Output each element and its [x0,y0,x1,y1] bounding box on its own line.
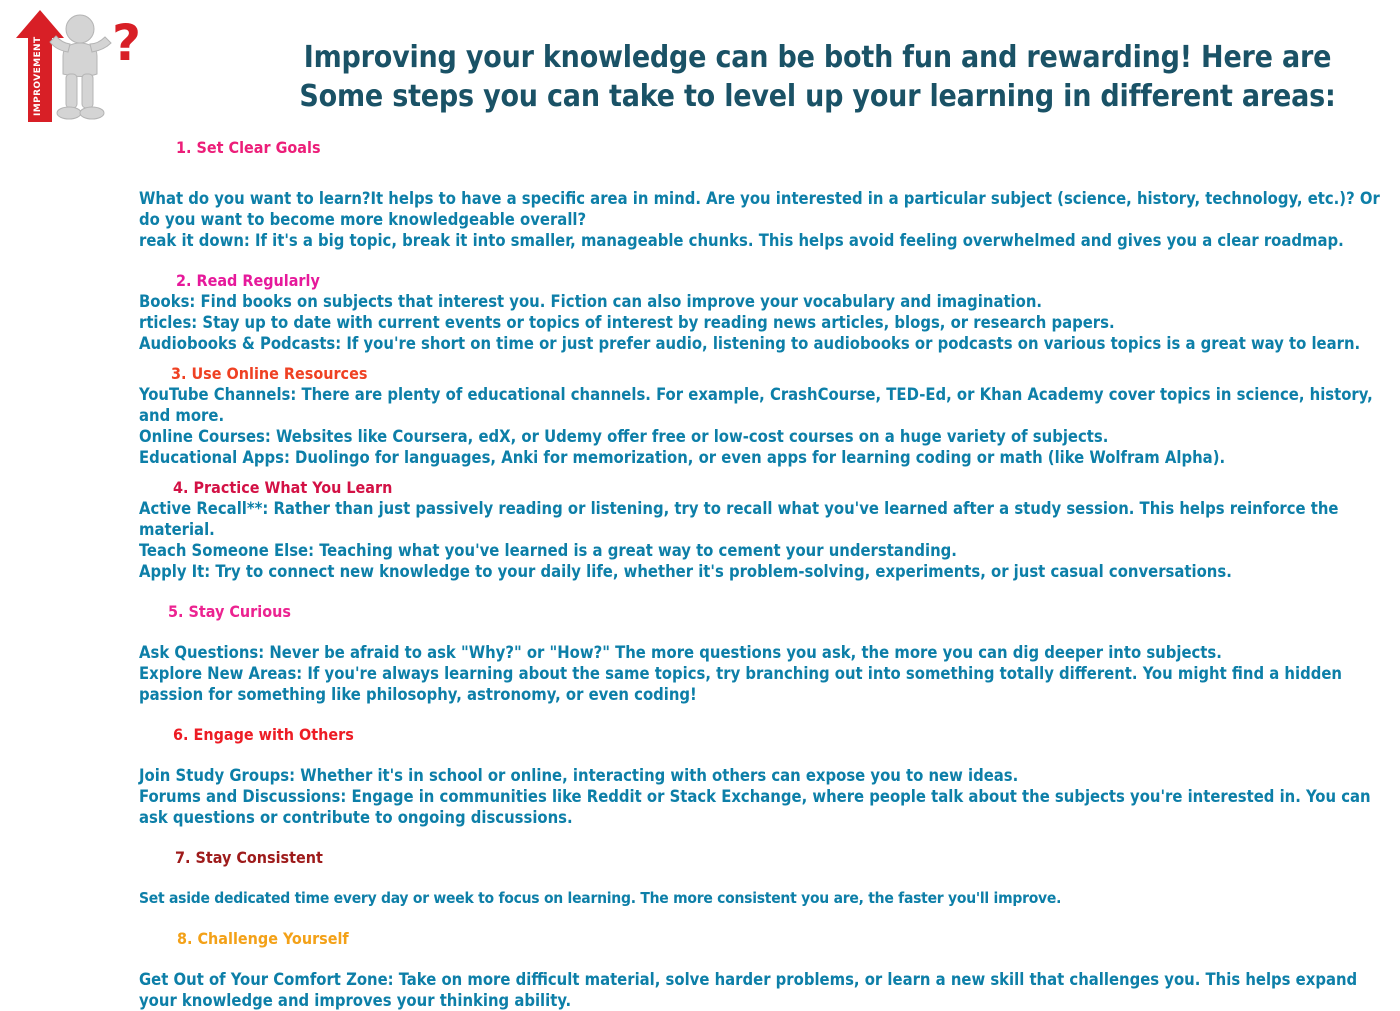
section-5-line-2: Explore New Areas: If you're always lear… [139,663,1394,705]
section-1: 1. Set Clear Goals What do you want to l… [0,138,1400,251]
section-4-line-2: Teach Someone Else: Teaching what you've… [139,540,1394,561]
section-4-body: Active Recall**: Rather than just passiv… [0,498,1400,582]
section-5-body: Ask Questions: Never be afraid to ask "W… [0,642,1400,705]
section-6: 6. Engage with Others Join Study Groups:… [0,725,1400,828]
section-2-line-1: Books: Find books on subjects that inter… [139,291,1394,312]
section-1-body: What do you want to learn?It helps to ha… [0,188,1400,251]
section-2-body: Books: Find books on subjects that inter… [0,291,1400,354]
section-7-line-1: Set aside dedicated time every day or we… [139,888,1394,909]
section-5: 5. Stay Curious Ask Questions: Never be … [0,602,1400,705]
section-2-line-2: rticles: Stay up to date with current ev… [139,312,1394,333]
section-1-heading: 1. Set Clear Goals [0,138,1400,158]
section-7: 7. Stay Consistent Set aside dedicated t… [0,848,1400,909]
section-3-line-1: YouTube Channels: There are plenty of ed… [139,384,1394,426]
improvement-figure-icon: IMPROVEMENT ? [8,4,148,132]
section-7-body: Set aside dedicated time every day or we… [0,888,1400,909]
section-8: 8. Challenge Yourself Get Out of Your Co… [0,929,1400,1011]
page-title-line-2: Some steps you can take to level up your… [240,77,1395,116]
document-page: IMPROVEMENT ? Improving your knowledge c… [0,0,1400,950]
section-3-line-2: Online Courses: Websites like Coursera, … [139,426,1394,447]
section-1-line-2: reak it down: If it's a big topic, break… [139,230,1394,251]
section-4-line-1: Active Recall**: Rather than just passiv… [139,498,1394,540]
section-8-body: Get Out of Your Comfort Zone: Take on mo… [0,969,1400,1011]
section-2-heading: 2. Read Regularly [0,271,1400,291]
section-1-line-1: What do you want to learn?It helps to ha… [139,188,1394,230]
section-2: 2. Read Regularly Books: Find books on s… [0,271,1400,354]
section-3-line-3: Educational Apps: Duolingo for languages… [139,447,1394,468]
section-3-heading: 3. Use Online Resources [0,364,1400,384]
section-6-line-1: Join Study Groups: Whether it's in schoo… [139,765,1394,786]
section-8-line-1: Get Out of Your Comfort Zone: Take on mo… [139,969,1394,1011]
section-7-heading: 7. Stay Consistent [0,848,1400,868]
section-3-body: YouTube Channels: There are plenty of ed… [0,384,1400,468]
section-2-line-3: Audiobooks & Podcasts: If you're short o… [139,333,1394,354]
section-4-line-3: Apply It: Try to connect new knowledge t… [139,561,1394,582]
section-6-body: Join Study Groups: Whether it's in schoo… [0,765,1400,828]
svg-text:IMPROVEMENT: IMPROVEMENT [33,36,43,116]
section-4: 4. Practice What You Learn Active Recall… [0,478,1400,582]
page-title: Improving your knowledge can be both fun… [240,38,1395,116]
sections-container: 1. Set Clear Goals What do you want to l… [0,128,1400,1011]
section-5-heading: 5. Stay Curious [0,602,1400,622]
section-5-line-1: Ask Questions: Never be afraid to ask "W… [139,642,1394,663]
question-mark-glyph: ? [112,14,141,72]
section-6-line-2: Forums and Discussions: Engage in commun… [139,786,1394,828]
section-6-heading: 6. Engage with Others [0,725,1400,745]
section-3: 3. Use Online Resources YouTube Channels… [0,364,1400,468]
section-4-heading: 4. Practice What You Learn [0,478,1400,498]
page-title-line-1: Improving your knowledge can be both fun… [240,38,1395,77]
section-8-heading: 8. Challenge Yourself [0,929,1400,949]
